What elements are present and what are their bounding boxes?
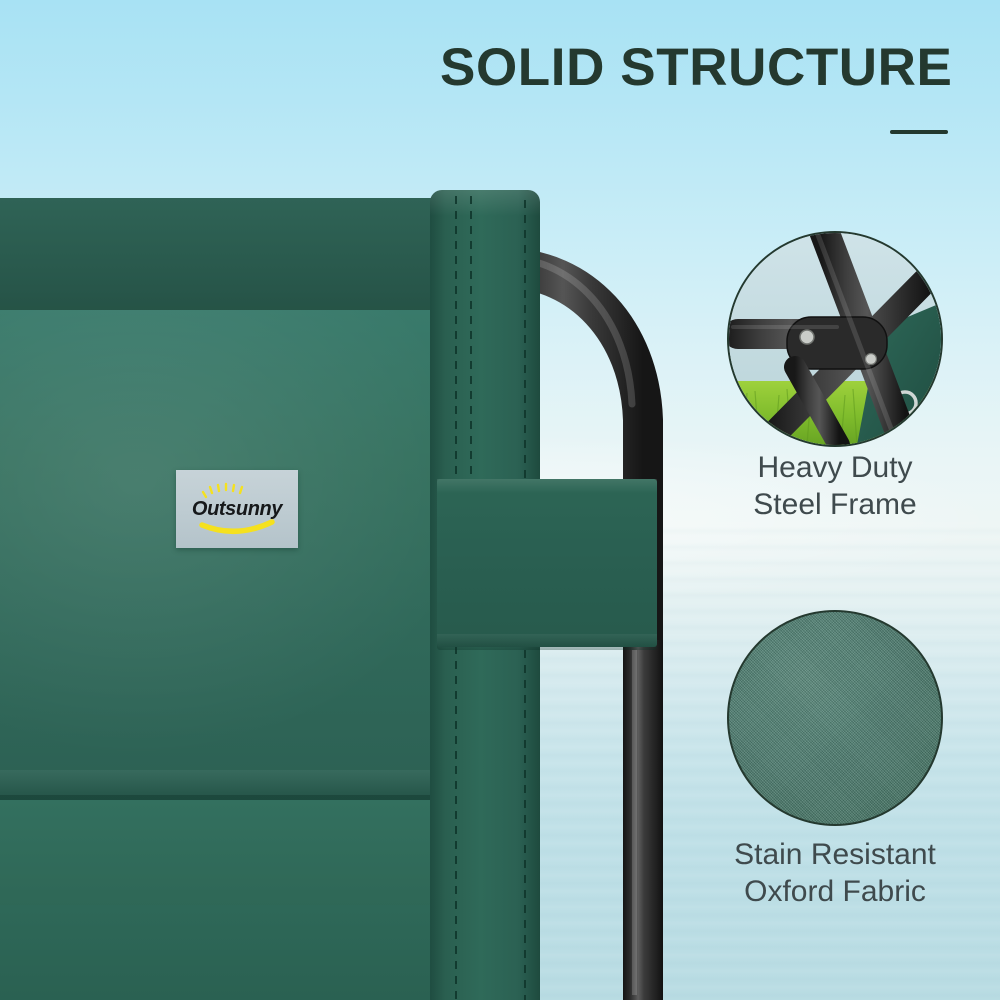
caption-line-2: Oxford Fabric xyxy=(685,873,985,910)
seat-front-panel xyxy=(0,905,470,1000)
stitch-line-middle xyxy=(470,196,472,496)
back-cushion xyxy=(0,310,460,810)
caption-line-2: Steel Frame xyxy=(685,486,985,523)
strap-highlight xyxy=(437,479,657,493)
callout-caption-oxford-fabric: Stain Resistant Oxford Fabric xyxy=(685,836,985,910)
steel-back-post xyxy=(623,640,663,1000)
chair-product-image: Outsunny xyxy=(0,0,700,1000)
logo-swoosh xyxy=(202,522,272,531)
post-highlight xyxy=(632,650,637,995)
horizontal-strap xyxy=(437,479,657,647)
caption-line-1: Stain Resistant xyxy=(685,836,985,873)
title-underline-dash xyxy=(890,130,948,134)
caption-line-1: Heavy Duty xyxy=(685,449,985,486)
brand-tag: Outsunny xyxy=(176,470,298,548)
callout-caption-steel-frame: Heavy Duty Steel Frame xyxy=(685,449,985,523)
strap-shadow xyxy=(437,634,657,650)
feature-graphic-canvas: SOLID STRUCTURE xyxy=(0,0,1000,1000)
brand-name: Outsunny xyxy=(176,498,298,521)
oxford-fabric-swatch xyxy=(727,610,943,826)
steel-frame-joint-photo xyxy=(727,231,943,447)
